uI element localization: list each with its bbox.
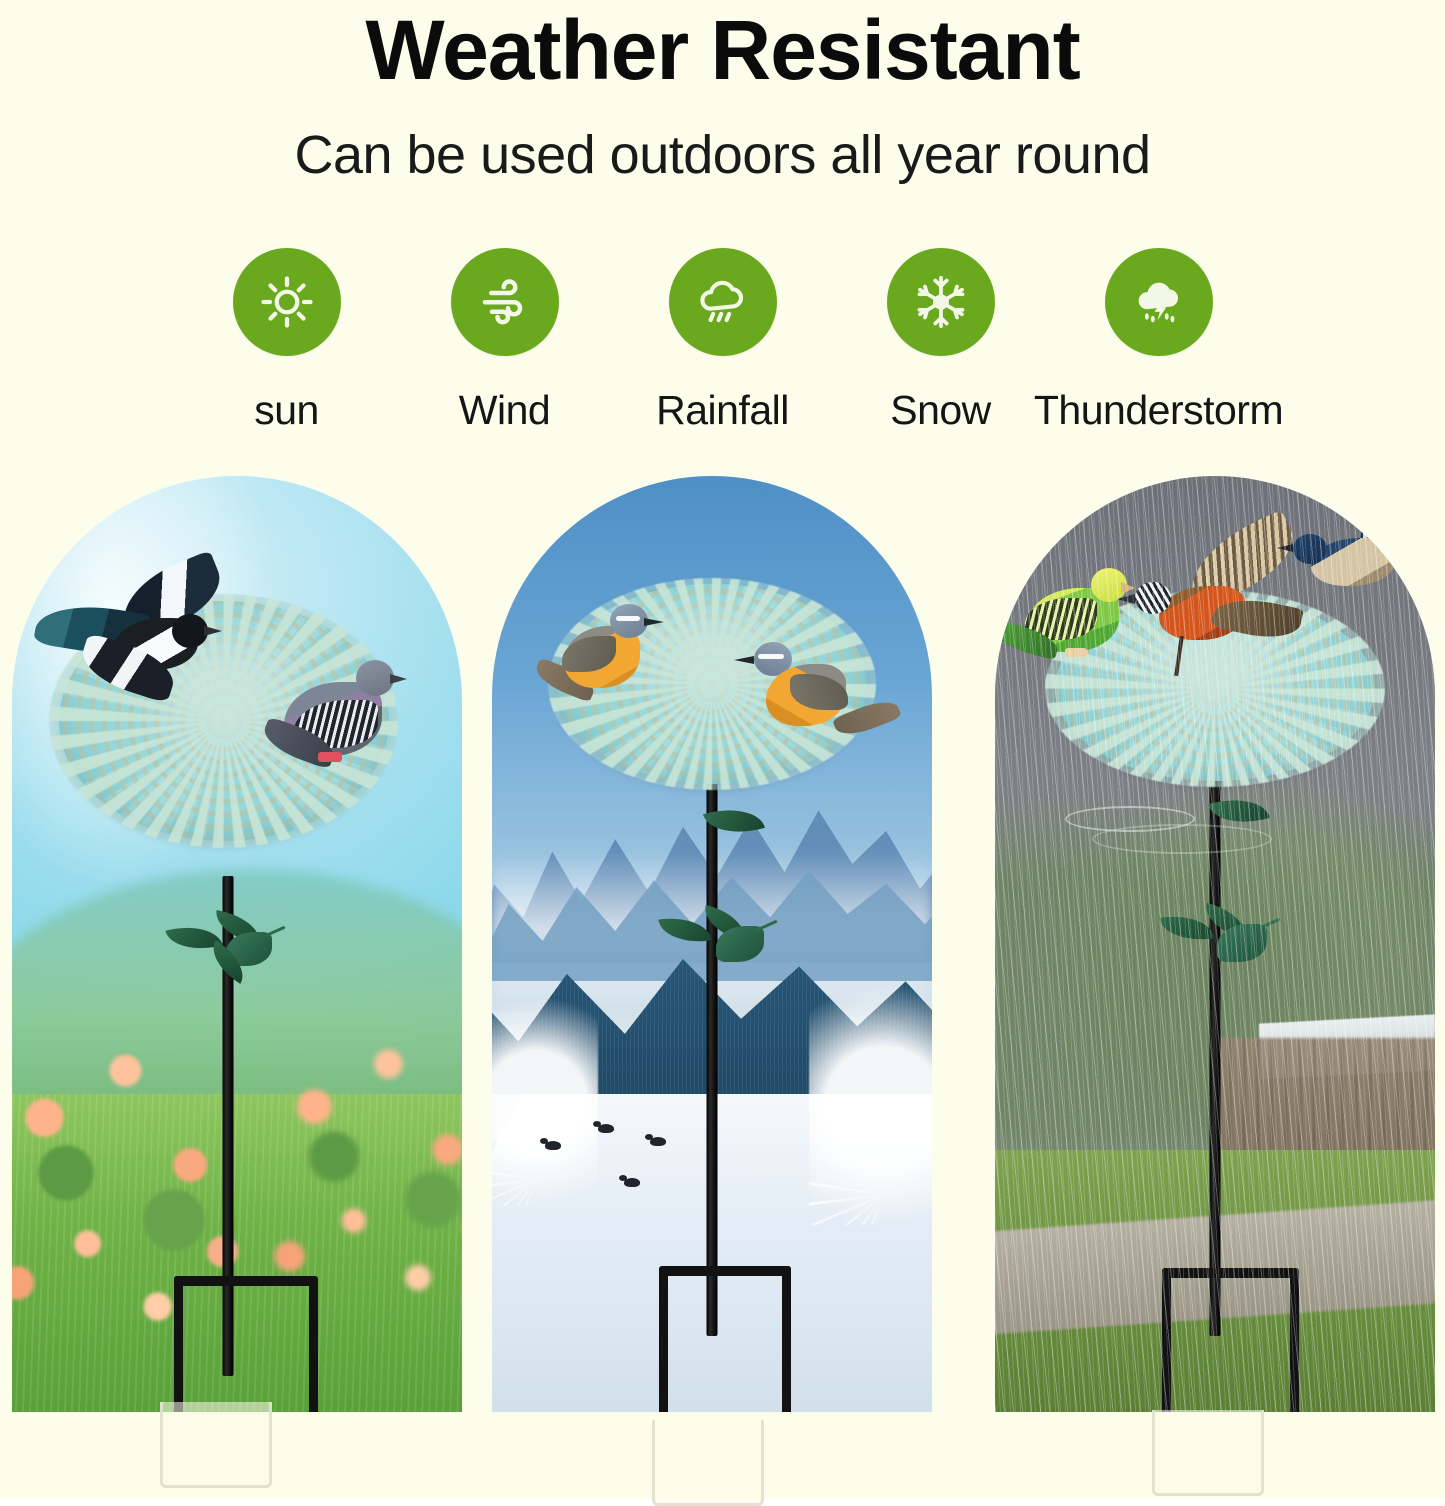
leaf-hummingbird-ornament [192,906,312,996]
budgie-feet [1065,648,1087,657]
lifestyle-photo-panels [0,476,1445,1416]
leaf-hummingbird-ornament [686,806,806,1006]
pigeon-beak [390,674,407,684]
bird-head [610,604,648,638]
swallow-bird-flying [1295,490,1435,630]
snowflake-icon [911,272,971,332]
page-title: Weather Resistant [0,0,1445,92]
ground-stake-leg [659,1266,668,1412]
wind-icon [475,272,535,332]
thunderstorm-badge [1105,248,1213,356]
ground-stake-bar [659,1266,791,1276]
sunny-scene [12,476,462,1412]
hummingbird-beak [264,926,285,938]
feature-label-thunderstorm: Thunderstorm [1034,390,1283,431]
water-ripple [1092,824,1272,854]
redstart-bird-right [750,636,900,766]
leaf [1159,911,1214,946]
feature-label-snow: Snow [890,390,991,431]
snowy-scene [492,476,932,1412]
pigeon-head [356,660,394,696]
bird-beak [644,618,664,626]
magpie-bird [40,572,230,722]
rainy-backyard-panel [995,476,1435,1412]
sun-icon [257,272,317,332]
robin-legs [1174,636,1184,676]
feature-label-rainfall: Rainfall [656,390,789,431]
swallow-head [1293,534,1327,564]
robin-beak [1117,594,1135,604]
leaf [658,913,711,948]
wind-badge [451,248,559,356]
feature-label-wind: Wind [459,390,550,431]
ground-stake-leg [1162,1268,1171,1412]
ghost-stake-1 [160,1402,272,1488]
page-subtitle: Can be used outdoors all year round [0,128,1445,182]
ground-stake-bar [174,1276,314,1286]
bird-eyestripe [758,654,784,659]
feature-wind: Wind [396,248,614,431]
sunny-rose-garden-panel [12,476,462,1412]
ground-stake-leg [309,1276,318,1412]
leaf [703,799,765,843]
pigeon-bird [274,648,424,798]
feature-thunderstorm: Thunderstorm [1050,248,1268,431]
ground-stake-leg [174,1276,183,1412]
feature-label-sun: sun [254,390,319,431]
magpie-beak [204,626,222,636]
bird-eyestripe [616,616,640,621]
sun-badge [233,248,341,356]
hummingbird-beak [1259,918,1280,930]
ghost-stake-3 [1152,1410,1264,1496]
snow-badge [887,248,995,356]
robin-bird-splashing [1121,538,1311,688]
thunderstorm-icon [1128,271,1190,333]
bird-beak [734,656,754,664]
weather-feature-list: sun Wind Rainfall [0,248,1445,431]
pigeon-feet [318,752,342,762]
rainfall-badge [669,248,777,356]
ghost-stake-2 [652,1420,764,1506]
robin-head [1135,582,1171,614]
feature-sun: sun [178,248,396,431]
snowy-mountain-panel [492,476,932,1412]
ground-stake-bar [1162,1268,1296,1278]
ground-stake-leg [782,1266,791,1412]
ground-stake-leg [1290,1268,1299,1412]
product-feature-page: Weather Resistant Can be used outdoors a… [0,0,1445,1499]
feature-snow: Snow [832,248,1050,431]
magpie-head [172,614,208,648]
redstart-bird-left [538,596,678,726]
hummingbird-beak [756,920,777,932]
feature-rainfall: Rainfall [614,248,832,431]
swallow-beak [1277,544,1293,552]
rainy-scene [995,476,1435,1412]
rain-cloud-icon [692,271,754,333]
